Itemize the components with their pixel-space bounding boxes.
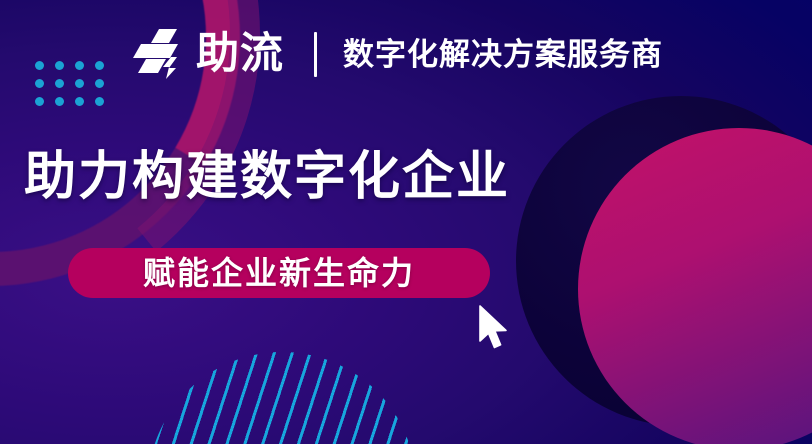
grid-dot <box>75 61 84 70</box>
magenta-gradient-circle-shape <box>578 128 812 444</box>
cyan-dot-grid <box>35 61 115 115</box>
hero-headline: 助力构建数字化企业 <box>24 148 510 206</box>
cyan-striped-circle-shape <box>148 352 416 444</box>
header-tagline: 数字化解决方案服务商 <box>343 39 663 70</box>
logo-wordmark: 助流 <box>196 33 284 76</box>
banner-header: 助流 数字化解决方案服务商 <box>133 24 663 84</box>
grid-dot <box>95 61 104 70</box>
hero-pill-button[interactable]: 赋能企业新生命力 <box>68 248 490 298</box>
dark-navy-circle-shape <box>516 96 812 426</box>
hero-pill-label: 赋能企业新生命力 <box>143 257 415 289</box>
promo-banner: 助流 数字化解决方案服务商 助力构建数字化企业 赋能企业新生命力 <box>0 0 812 444</box>
header-divider <box>314 32 317 77</box>
grid-dot <box>95 97 104 106</box>
grid-dot <box>35 97 44 106</box>
grid-dot <box>35 79 44 88</box>
grid-dot <box>55 79 64 88</box>
grid-dot <box>75 79 84 88</box>
lightning-flow-logo-icon <box>133 27 187 81</box>
grid-dot <box>35 61 44 70</box>
grid-dot <box>55 97 64 106</box>
grid-dot <box>55 61 64 70</box>
grid-dot <box>95 79 104 88</box>
mouse-pointer-cursor <box>478 305 512 353</box>
grid-dot <box>75 97 84 106</box>
